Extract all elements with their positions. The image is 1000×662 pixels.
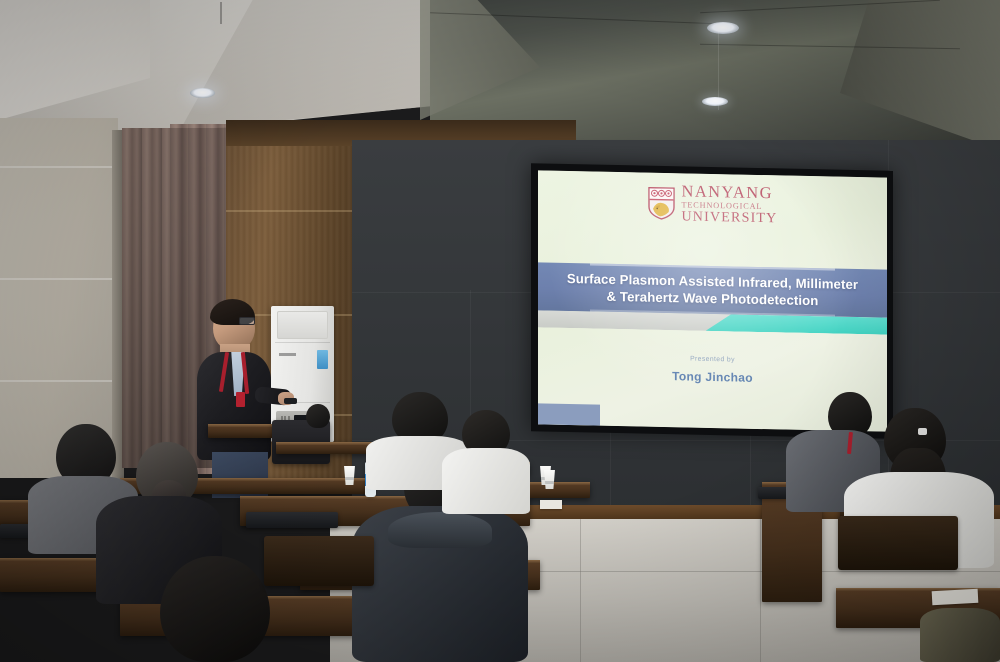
presentation-clicker	[284, 398, 297, 404]
audience-hood	[388, 512, 492, 548]
audience-head	[160, 556, 270, 662]
audience-head	[306, 404, 330, 428]
presented-by-label: Presented by	[538, 352, 887, 366]
ac-brand-mark	[279, 353, 296, 356]
ac-energy-label	[317, 350, 328, 369]
audience-torso	[920, 608, 1000, 662]
ntu-logo: NANYANG TECHNOLOGICAL UNIVERSITY	[648, 183, 778, 226]
chair-back	[264, 536, 374, 586]
presenter-badge	[236, 392, 245, 407]
ac-vent	[277, 311, 328, 339]
ceiling-downlight-icon	[190, 88, 215, 98]
paper-sheet	[932, 589, 979, 605]
ntu-line-1: NANYANG	[682, 183, 778, 202]
slide-title: Surface Plasmon Assisted Infrared, Milli…	[559, 269, 866, 310]
wall-panel-left	[0, 118, 118, 478]
bench-desk	[520, 482, 590, 498]
hair-clip	[918, 428, 927, 435]
slide-title-line-2: & Terahertz Wave Photodetection	[607, 289, 819, 308]
chair-back	[838, 516, 958, 570]
paper-sheet	[540, 500, 562, 509]
ceiling-downlight-icon	[702, 97, 728, 106]
presenter-name: Tong Jinchao	[538, 366, 887, 387]
presenter-glasses-icon	[239, 317, 255, 325]
laptop	[246, 512, 338, 528]
slide-corner-tab	[538, 403, 600, 425]
accent-teal-bar	[706, 314, 887, 335]
ceiling-seam	[220, 2, 222, 24]
audience-torso	[442, 448, 530, 514]
lecture-room-photo: NANYANG TECHNOLOGICAL UNIVERSITY Surface…	[0, 0, 1000, 662]
presentation-slide: NANYANG TECHNOLOGICAL UNIVERSITY Surface…	[538, 170, 887, 431]
ntu-line-3: UNIVERSITY	[682, 210, 778, 226]
ceiling-wire	[718, 30, 719, 110]
ceiling-downlight-icon	[707, 22, 739, 34]
ntu-shield-lion-icon	[648, 186, 675, 220]
projection-screen-surface: NANYANG TECHNOLOGICAL UNIVERSITY Surface…	[538, 170, 887, 431]
ntu-wordmark: NANYANG TECHNOLOGICAL UNIVERSITY	[682, 183, 778, 226]
slide-title-band: Surface Plasmon Assisted Infrared, Milli…	[538, 262, 887, 317]
